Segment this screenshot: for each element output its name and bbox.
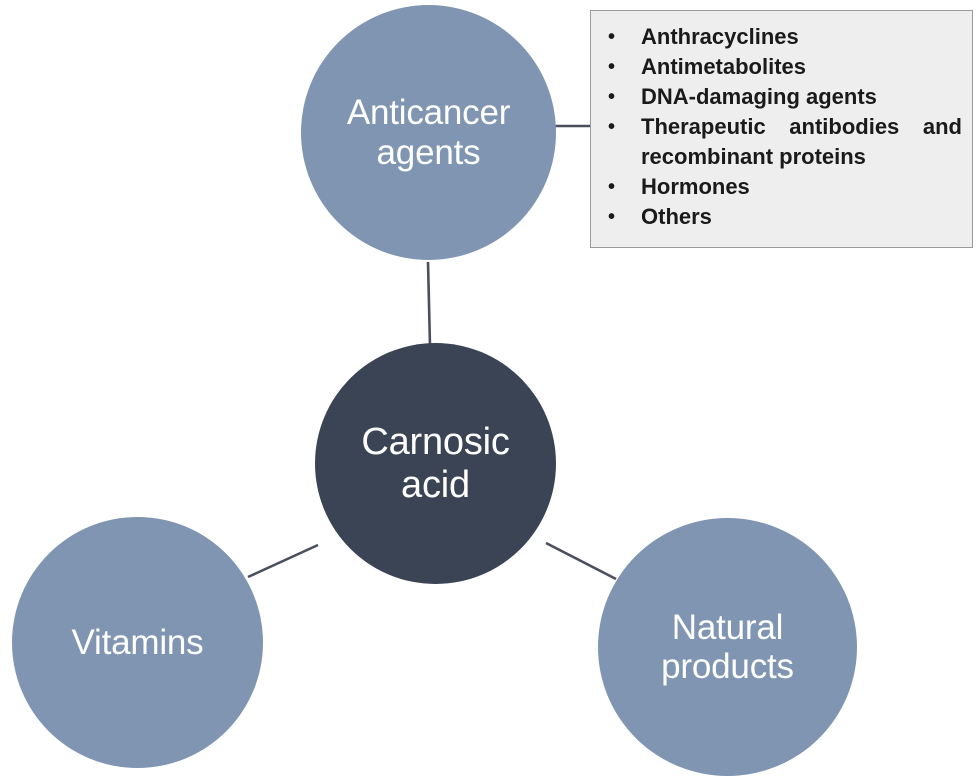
- list-item: • Others: [601, 202, 962, 232]
- node-vitamins-label: Vitamins: [72, 623, 204, 662]
- connector-center-to-natural: [546, 543, 616, 579]
- list-item-label: Hormones: [641, 172, 962, 202]
- list-item-label: Anthracyclines: [641, 22, 962, 52]
- node-carnosic-acid[interactable]: Carnosic acid: [315, 343, 556, 584]
- list-item: • Anthracyclines: [601, 22, 962, 52]
- list-item-label: Antimetabolites: [641, 52, 962, 82]
- bullet-icon: •: [601, 112, 641, 142]
- node-carnosic-acid-label: Carnosic acid: [361, 421, 509, 506]
- bullet-icon: •: [601, 202, 641, 232]
- diagram-canvas: Anticancer agents Carnosic acid Vitamins…: [0, 0, 980, 780]
- node-anticancer-agents[interactable]: Anticancer agents: [301, 5, 556, 260]
- bullet-icon: •: [601, 52, 641, 82]
- list-item-label: DNA-damaging agents: [641, 82, 962, 112]
- list-item-label-continuation: recombinant proteins: [641, 142, 962, 172]
- list-item-label-wrapper: Therapeutic antibodies and recombinant p…: [641, 112, 962, 172]
- list-item: • Therapeutic antibodies and recombinant…: [601, 112, 962, 172]
- list-item: • Hormones: [601, 172, 962, 202]
- bullet-icon: •: [601, 82, 641, 112]
- node-natural-products-label: Natural products: [661, 608, 794, 686]
- list-item-label: Therapeutic antibodies and: [641, 114, 962, 139]
- list-item: • Antimetabolites: [601, 52, 962, 82]
- node-natural-products[interactable]: Natural products: [598, 518, 857, 776]
- anticancer-agents-detail-box: • Anthracyclines • Antimetabolites • DNA…: [590, 10, 973, 248]
- connector-center-to-vitamins: [248, 545, 318, 577]
- node-vitamins[interactable]: Vitamins: [12, 517, 263, 768]
- node-anticancer-agents-label: Anticancer agents: [347, 93, 510, 171]
- bullet-icon: •: [601, 172, 641, 202]
- list-item-label: Others: [641, 202, 962, 232]
- list-item: • DNA-damaging agents: [601, 82, 962, 112]
- bullet-icon: •: [601, 22, 641, 52]
- connector-anticancer-to-center: [428, 262, 430, 346]
